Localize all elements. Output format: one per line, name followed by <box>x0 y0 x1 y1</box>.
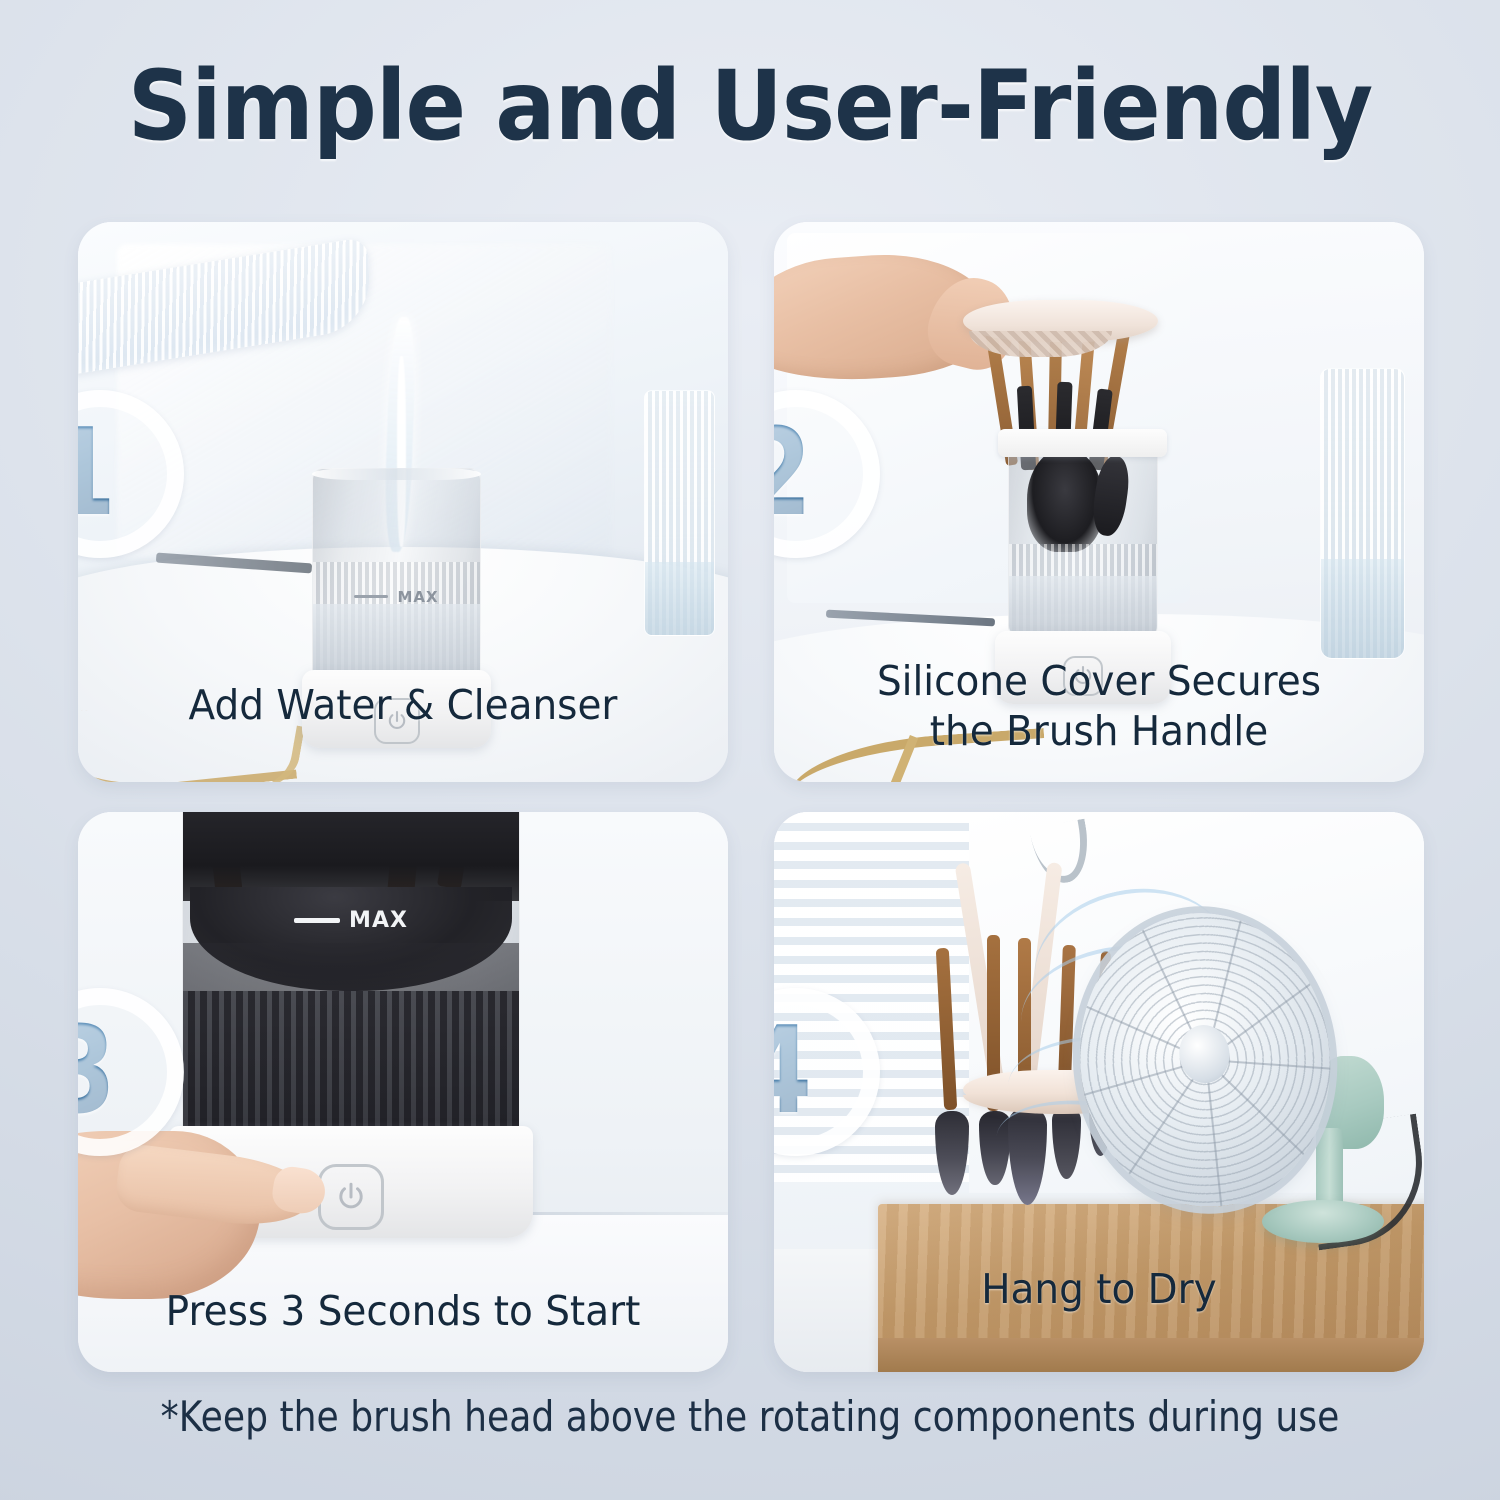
power-button[interactable] <box>318 1164 384 1230</box>
max-label: MAX <box>349 908 408 933</box>
desk-edge <box>878 1338 1424 1372</box>
max-tick <box>354 595 388 598</box>
brush-cleaner-cup <box>1008 435 1158 637</box>
brush-cleaner-cup: MAX <box>312 468 481 681</box>
step-card-4: 4 Hang to Dry <box>774 812 1424 1372</box>
step-number-3: 3 <box>78 1012 116 1132</box>
step-caption-2: Silicone Cover Secures the Brush Handle <box>790 656 1408 756</box>
steps-grid: MAX 1 Add Water & Cleanser <box>78 222 1424 1372</box>
fan-base <box>1262 1200 1384 1243</box>
brush-head-in-cup <box>1027 448 1104 552</box>
cup-body <box>1008 435 1158 637</box>
brush-head <box>935 1111 969 1195</box>
glass-tumbler <box>644 390 716 636</box>
ribbed-glass-bottle <box>1320 368 1405 659</box>
step-card-3: MAX 3 Press 3 Seconds to Start <box>78 812 728 1372</box>
footnote: *Keep the brush head above the rotating … <box>105 1392 1395 1441</box>
step-card-2: 2 Silicone Cover Secures the Brush Handl… <box>774 222 1424 782</box>
step-caption-1: Add Water & Cleanser <box>94 680 712 730</box>
step-caption-3: Press 3 Seconds to Start <box>94 1286 712 1336</box>
page-header: Simple and User-Friendly <box>0 58 1500 154</box>
fan-cage <box>1065 901 1344 1219</box>
cup-collar <box>998 429 1167 457</box>
brush-cleaner-cup: MAX <box>182 812 520 1137</box>
desk-fan <box>1073 913 1411 1271</box>
cup-body <box>312 468 481 681</box>
cup-body <box>182 812 520 1137</box>
water-level <box>313 604 480 680</box>
dirty-water <box>183 943 519 1136</box>
brush-handle <box>936 948 957 1111</box>
page-title: Simple and User-Friendly <box>90 58 1411 154</box>
step-number-1: 1 <box>78 414 116 534</box>
max-line-marker: MAX <box>312 588 481 606</box>
water-level <box>1009 576 1157 636</box>
max-line-marker: MAX <box>182 908 520 933</box>
step-number-4: 4 <box>774 1012 812 1132</box>
max-label: MAX <box>397 588 438 606</box>
cup-rim <box>312 468 481 480</box>
step-caption-4: Hang to Dry <box>790 1264 1408 1314</box>
brush-head-in-cup <box>1089 454 1132 538</box>
power-icon <box>334 1180 368 1214</box>
max-tick <box>294 918 340 923</box>
step-number-2: 2 <box>774 414 812 534</box>
step-card-1: MAX 1 Add Water & Cleanser <box>78 222 728 782</box>
